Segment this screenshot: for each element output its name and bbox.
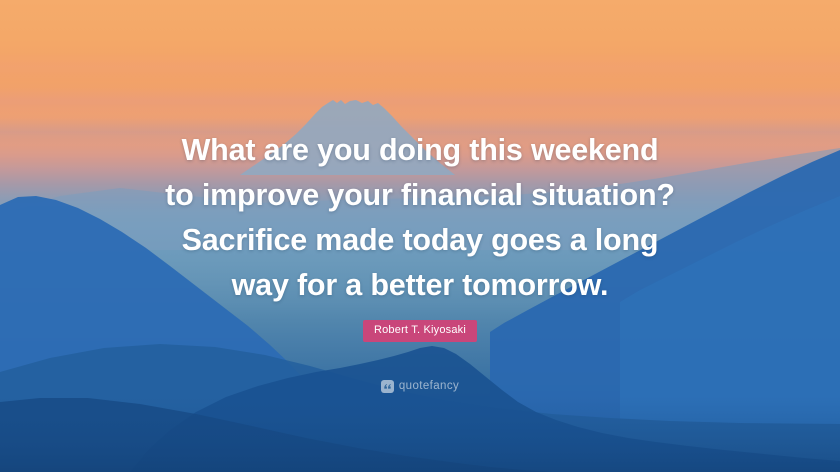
quote-image-canvas: What are you doing this weekend to impro… xyxy=(0,0,840,472)
quotefancy-watermark[interactable]: quotefancy xyxy=(0,380,840,393)
quote-line-3: Sacrifice made today goes a long xyxy=(60,218,780,263)
quote-line-1: What are you doing this weekend xyxy=(60,128,780,173)
quotefancy-brand-text: quotefancy xyxy=(399,381,459,393)
author-badge[interactable]: Robert T. Kiyosaki xyxy=(363,320,477,342)
quote-text-block: What are you doing this weekend to impro… xyxy=(0,128,840,308)
attribution-wrapper: Robert T. Kiyosaki xyxy=(0,320,840,342)
quote-line-2: to improve your financial situation? xyxy=(60,173,780,218)
quote-mark-icon xyxy=(381,380,394,393)
quote-line-4: way for a better tomorrow. xyxy=(60,263,780,308)
